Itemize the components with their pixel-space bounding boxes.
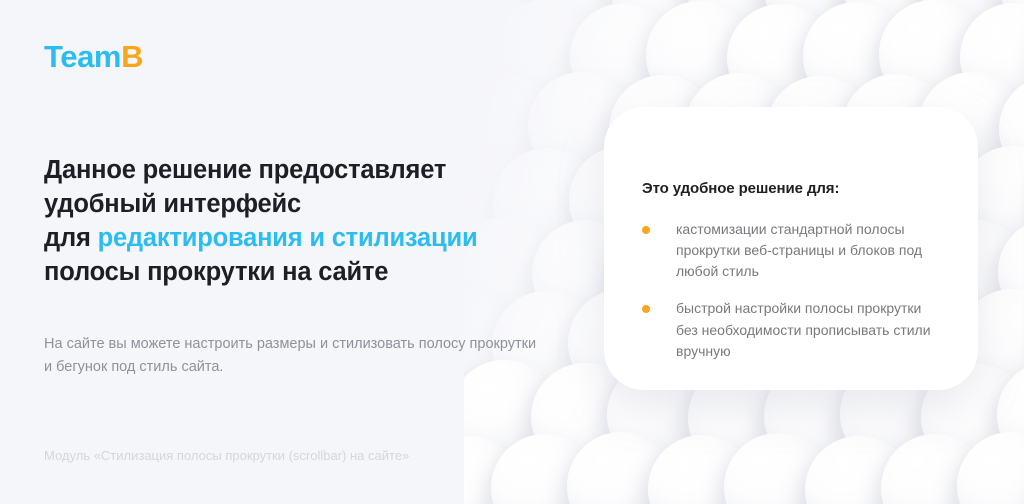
list-item: кастомизации стандартной полосы прокрутк… [642,219,944,283]
sphere-shape [464,2,521,110]
sphere-shape [957,432,1024,504]
sphere-shape [997,361,1024,469]
sphere-shape [998,218,1024,326]
sphere-shape [529,0,637,37]
headline-line-4: полосы прокрутки на сайте [44,258,388,286]
bullet-dot-icon [642,305,650,313]
sphere-shape [648,435,756,504]
sphere-shape [803,2,911,110]
sphere-shape [646,1,754,109]
sphere-shape [489,0,597,108]
sphere-shape [464,436,523,504]
sphere-shape [919,0,1024,37]
sphere-shape [960,3,1024,111]
sphere-shape [464,0,480,36]
sphere-shape [881,434,989,504]
sphere-shape [1000,0,1024,40]
sphere-shape [805,436,913,504]
brand-logo[interactable]: TeamB [44,41,143,72]
list-item-label: кастомизации стандартной полосы прокрутк… [676,221,922,280]
sphere-shape [999,75,1024,183]
benefits-card-title: Это удобное решение для: [642,179,944,199]
sphere-shape [724,433,832,504]
headline-line-1: Данное решение предоставляет [44,156,446,184]
lead-paragraph: На сайте вы можете настроить размеры и с… [44,333,544,380]
sphere-shape [727,4,835,112]
headline-line-3-prefix: для [44,224,98,252]
brand-logo-text-primary: Team [44,39,121,74]
sphere-shape [567,432,675,504]
sphere-shape [843,0,951,39]
sphere-shape [762,0,870,36]
sphere-shape [879,0,987,108]
sphere-shape [570,3,678,111]
bullet-dot-icon [642,226,650,234]
sphere-shape [464,0,561,39]
benefits-list: кастомизации стандартной полосы прокрутк… [642,219,944,363]
sphere-shape [491,434,599,504]
page-title: Данное решение предоставляет удобный инт… [44,154,544,290]
benefits-card: Это удобное решение для: кастомизации ст… [604,107,978,390]
slide-canvas: TeamB Данное решение предоставляет удобн… [0,0,1024,504]
list-item-label: быстрой настройки полосы прокрутки без н… [676,300,931,359]
headline-line-2: удобный интерфейс [44,190,301,218]
module-footnote: Модуль «Стилизация полосы прокрутки (scr… [44,447,409,465]
sphere-shape [686,0,794,38]
list-item: быстрой настройки полосы прокрутки без н… [642,298,944,362]
brand-logo-text-secondary: B [121,39,143,74]
sphere-shape [610,0,718,40]
headline-line-3-accent: редактирования и стилизации [98,224,478,252]
